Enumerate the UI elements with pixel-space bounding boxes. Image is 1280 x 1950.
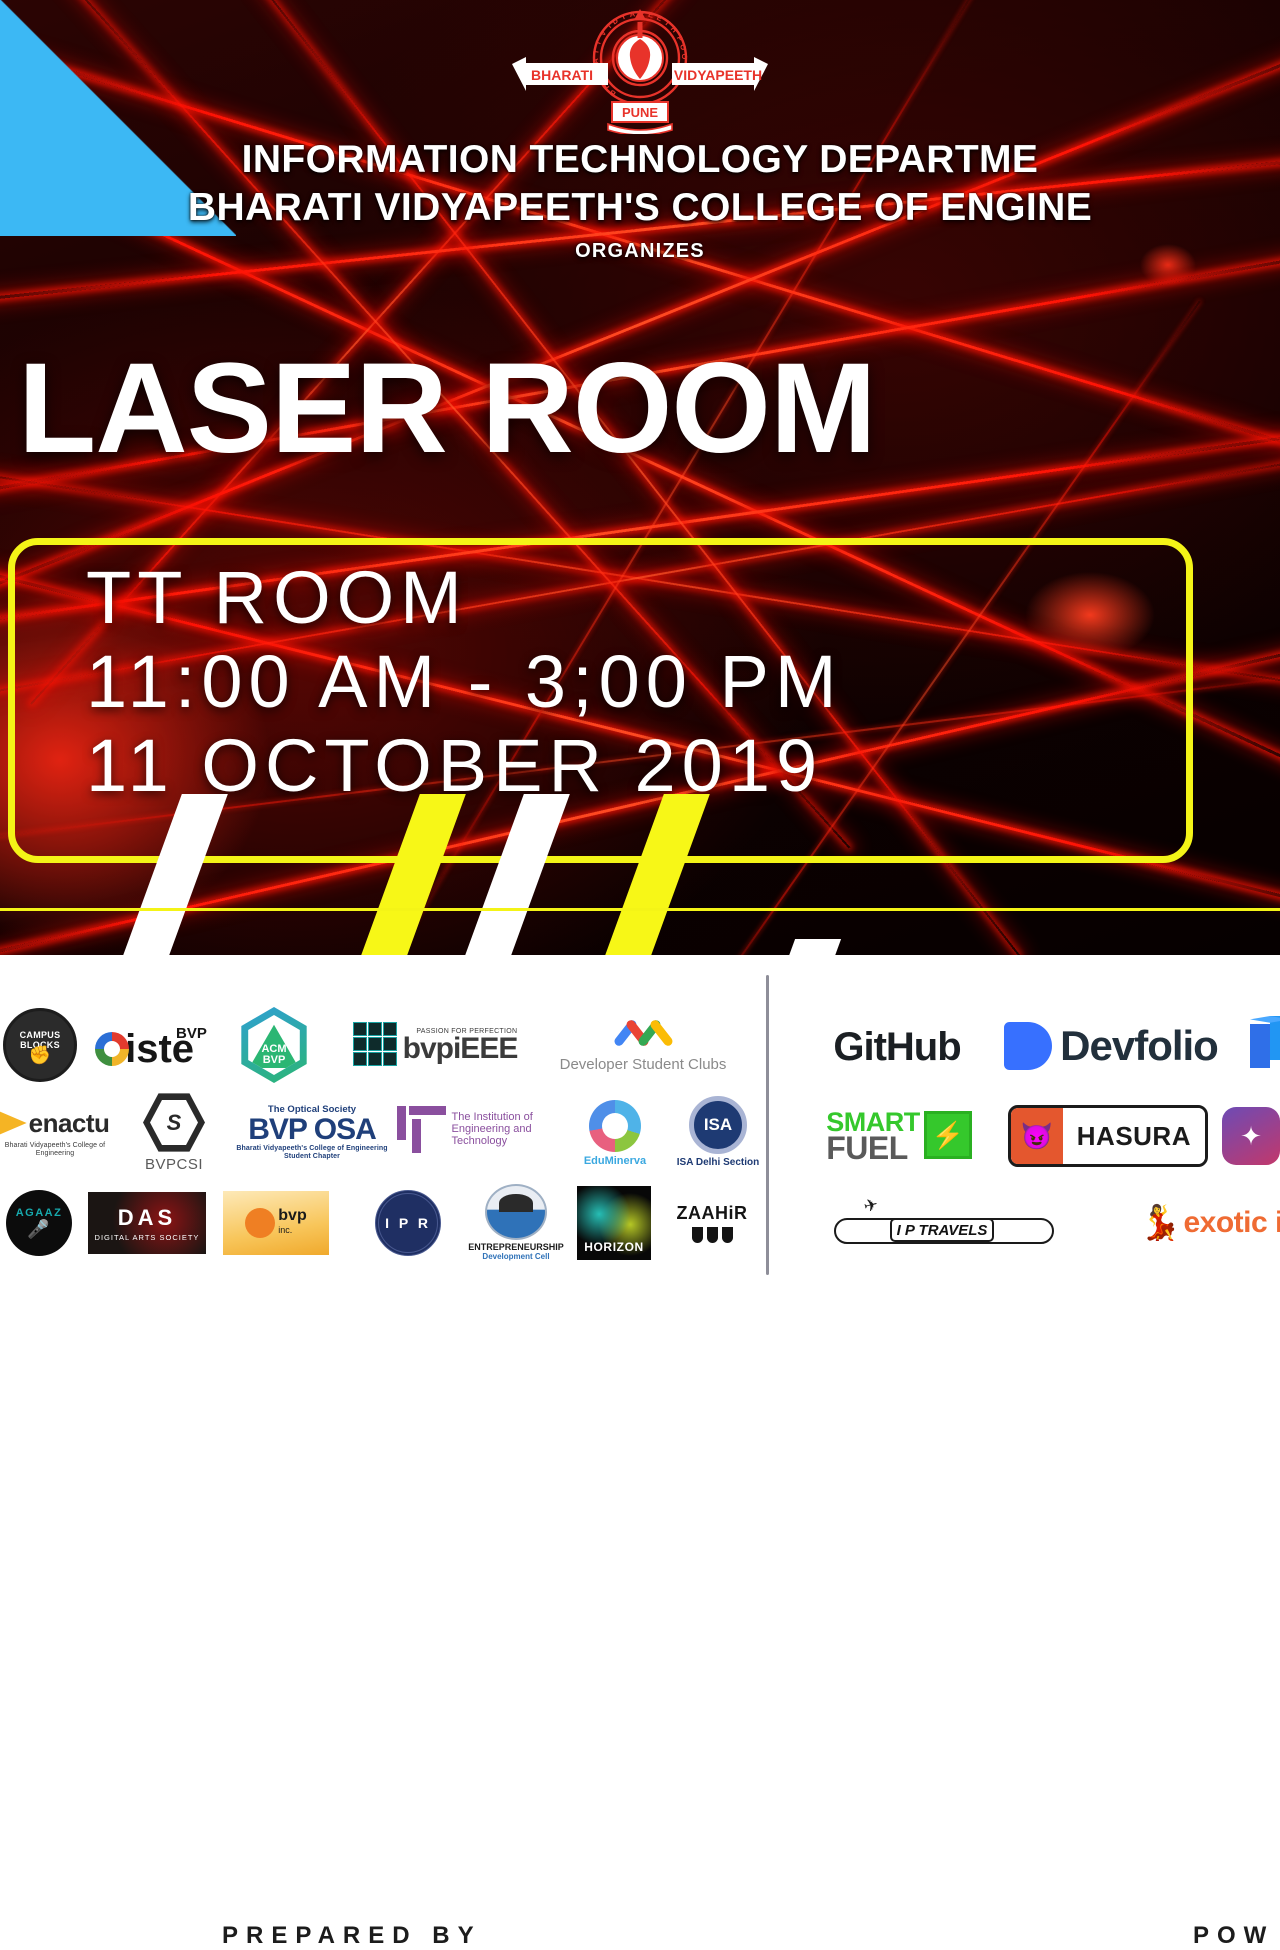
edc-line2: Development Cell [482,1252,549,1261]
devfolio-mark-icon [1004,1022,1052,1070]
devfolio-wordmark: Devfolio [1060,1022,1218,1070]
zaahir-dots-icon [692,1227,733,1243]
enactus-wordmark: enactus [29,1108,110,1139]
ipr-mark: I P R [375,1190,441,1256]
bvpcsi-caption: BVPCSI [145,1156,203,1173]
blue-cube-sponsor-logo[interactable] [1248,1007,1280,1077]
devfolio-logo[interactable]: Devfolio [986,1013,1236,1079]
prepared-by-label: PREPARED BY [222,1922,482,1950]
svg-text:E: E [647,10,654,20]
bharati-vidyapeeth-crest-icon: B H A R A T I V I D Y A P E E T H P O O [504,6,776,134]
edc-globe-icon [485,1184,547,1240]
yellow-rule-divider [0,908,1280,911]
zaahir-wordmark: ZAAHiR [677,1203,748,1224]
iste-bvp-logo[interactable]: iste BVP [92,1003,210,1087]
isa-caption: ISA Delhi Section [677,1157,759,1168]
horizon-wordmark: HORIZON [584,1240,644,1260]
slash-stripe [356,794,466,955]
isometric-cube-icon [1250,1016,1280,1068]
eduminerva-swirl-icon [589,1100,641,1152]
microphone-icon: 🎤 [27,1219,51,1240]
iste-bvp-badge: BVP [176,1025,207,1042]
bvp-inc-wordmark: bvp [278,1207,306,1224]
nataraja-dancer-icon: 💃 [1139,1206,1181,1240]
fist-icon: ✊ [29,1050,52,1060]
exotic-logo[interactable]: 💃 exotic i [1136,1193,1280,1253]
svg-text:O: O [678,43,688,51]
organizes-label: ORGANIZES [0,238,1280,264]
enactus-logo[interactable]: enactus Bharati Vidyapeeth's College of … [0,1093,110,1171]
bvp-osa-logo[interactable]: The Optical Society BVP OSA Bharati Vidy… [232,1089,392,1175]
zaahir-logo[interactable]: ZAAHiR [662,1181,762,1265]
edc-line1: ENTREPRENEURSHIP [468,1242,564,1252]
acm-line2: BVP [263,1055,286,1066]
bvpcsi-logo[interactable]: S BVPCSI [124,1087,224,1177]
event-poster-hero: B H A R A T I V I D Y A P E E T H P O O [0,0,1280,955]
lightning-bolt-icon: ⚡ [924,1111,972,1159]
iet-caption: The Institution of Engineering and Techn… [452,1111,562,1147]
das-caption: DIGITAL ARTS SOCIETY [95,1233,200,1242]
acm-bvp-logo[interactable]: ACM BVP [228,1001,320,1089]
slash-stripe [600,794,710,955]
isa-mark: ISA [689,1096,747,1154]
dancer-app-icon: ✦ [1222,1107,1280,1165]
slash-stripe [118,794,228,955]
exotic-wordmark: exotic i [1183,1206,1280,1240]
poster-footer: PREPARED BY POW CAMPUS BLOCKS ✊ iste BVP… [0,955,1280,1280]
slash-stripe [460,794,570,955]
svg-text:P: P [639,9,644,18]
campus-blocks-logo[interactable]: CAMPUS BLOCKS ✊ [0,1003,80,1087]
bvp-osa-wordmark: BVP OSA [248,1115,376,1145]
hasura-mascot-icon: 😈 [1011,1108,1063,1164]
dsc-chevron-icon [621,1018,666,1048]
event-venue: TT ROOM [86,556,843,640]
poster-header: B H A R A T I V I D Y A P E E T H P O O [0,0,1280,264]
powered-by-label: POW [1193,1922,1274,1950]
bvp-ieee-wordmark: bvpiEEE [403,1035,518,1063]
github-wordmark: GitHub [833,1025,960,1070]
smart-fuel-logo[interactable]: SMART FUEL ⚡ [804,1095,994,1175]
github-logo[interactable]: GitHub [812,1017,982,1077]
airplane-icon: ✈ [862,1195,881,1218]
rubiks-cube-icon [353,1022,399,1068]
ipr-logo[interactable]: I P R [366,1181,450,1265]
event-time: 11:00 AM - 3;00 PM [86,640,843,724]
entrepreneurship-development-cell-logo[interactable]: ENTREPRENEURSHIP Development Cell [458,1177,574,1267]
hasura-wordmark: HASURA [1063,1108,1205,1164]
bvp-osa-caption: Bharati Vidyapeeth's College of Engineer… [232,1145,392,1161]
svg-text:O: O [680,53,689,59]
developer-student-clubs-logo[interactable]: Developer Student Clubs [548,999,738,1091]
ip-travels-logo[interactable]: ✈ I P TRAVELS [824,1187,1064,1257]
globe-icon [245,1208,275,1238]
dsc-caption: Developer Student Clubs [560,1056,727,1073]
bvp-inc-logo[interactable]: bvp inc. [220,1181,332,1265]
agaaz-logo[interactable]: AGAAZ 🎤 [0,1181,78,1265]
digital-arts-society-logo[interactable]: DAS DIGITAL ARTS SOCIETY [84,1183,210,1263]
isa-delhi-section-logo[interactable]: ISA ISA Delhi Section [668,1089,768,1175]
hasura-logo[interactable]: 😈 HASURA [1008,1101,1208,1171]
agaaz-mark: AGAAZ 🎤 [6,1190,72,1256]
iste-swirl-icon [95,1032,129,1066]
department-title: INFORMATION TECHNOLOGY DEPARTME [0,137,1280,183]
bvp-inc-sub: inc. [278,1223,306,1237]
ip-travels-wordmark: I P TRAVELS [890,1218,994,1242]
diagonal-slash-decoration [0,765,1280,955]
campus-blocks-line1: CAMPUS [20,1030,61,1040]
svg-text:PUNE: PUNE [622,105,658,120]
page-title: LASER ROOM [18,348,876,470]
horizon-logo[interactable]: HORIZON [572,1181,656,1265]
college-title: BHARATI VIDYAPEETH'S COLLEGE OF ENGINE [0,185,1280,231]
das-mark: DAS [118,1205,176,1231]
svg-text:BHARATI: BHARATI [531,67,593,83]
svg-text:A: A [629,9,636,19]
iet-bars-icon [397,1106,446,1153]
bvpcsi-hex-icon: S [143,1092,205,1154]
eduminerva-caption: EduMinerva [584,1155,646,1167]
purple-app-sponsor-logo[interactable]: ✦ [1220,1103,1280,1169]
svg-text:VIDYAPEETH: VIDYAPEETH [674,67,762,83]
smart-fuel-line2: FUEL [826,1135,920,1161]
enactus-arrow-icon [0,1106,27,1140]
bvp-ieee-logo[interactable]: PASSION FOR PERFECTION bvpiEEE [340,1007,530,1083]
eduminerva-logo[interactable]: EduMinerva [570,1091,660,1175]
iet-logo[interactable]: The Institution of Engineering and Techn… [394,1097,564,1161]
slash-stripe [785,939,841,955]
enactus-caption: Bharati Vidyapeeth's College of Engineer… [0,1142,110,1158]
